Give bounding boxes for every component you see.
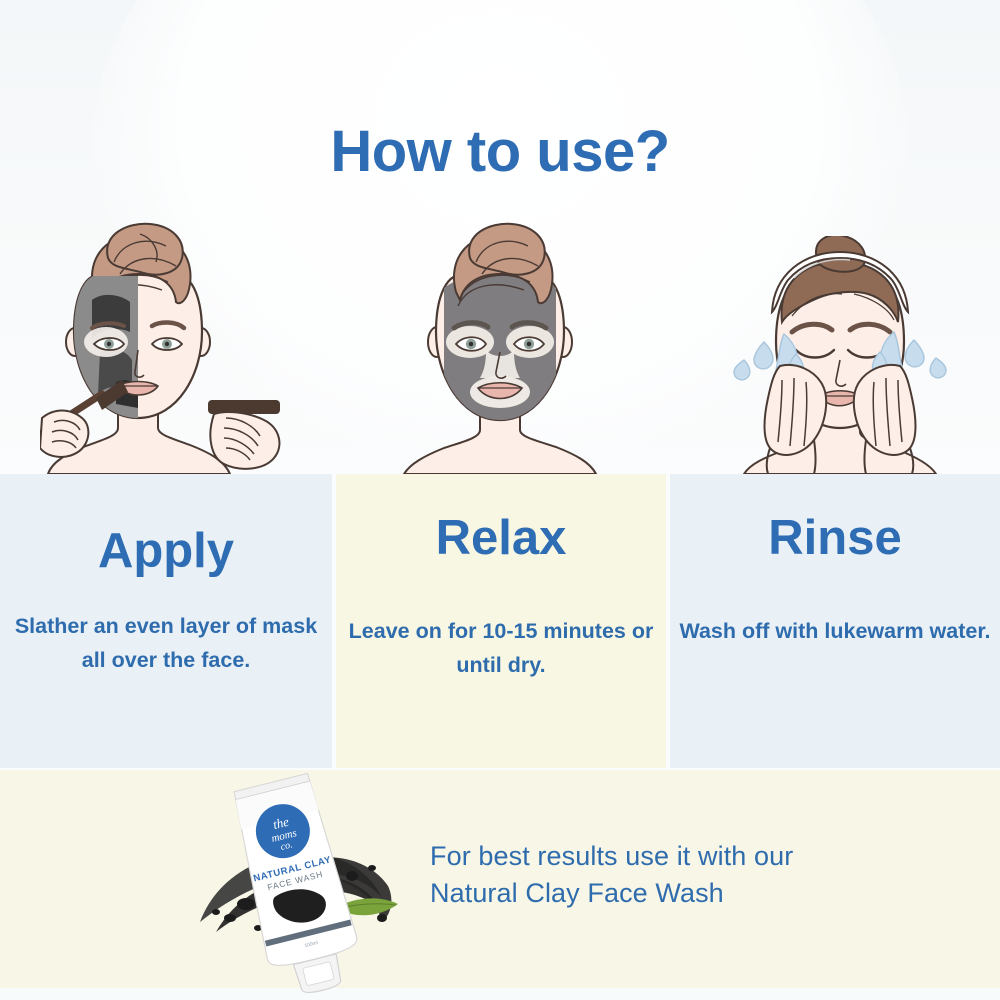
- product-tube-icon: the moms co. NATURAL CLAY FACE WASH 100m…: [186, 772, 401, 997]
- how-to-use-infographic: How to use?: [0, 0, 1000, 1000]
- step-heading-rinse: Rinse: [670, 514, 1000, 563]
- step-panel-apply: Apply Slather an even layer of mask all …: [0, 474, 332, 768]
- footer-edge-strip: [0, 988, 1000, 1000]
- step-body-rinse: Wash off with lukewarm water.: [670, 614, 1000, 648]
- step-panel-rinse: Rinse Wash off with lukewarm water.: [670, 474, 1000, 768]
- hero-section: How to use?: [0, 0, 1000, 474]
- step-heading-apply: Apply: [0, 527, 332, 576]
- step-body-apply: Slather an even layer of mask all over t…: [0, 609, 332, 677]
- page-title: How to use?: [0, 123, 1000, 181]
- step-panel-relax: Relax Leave on for 10-15 minutes or unti…: [336, 474, 666, 768]
- step-heading-relax: Relax: [336, 514, 666, 563]
- illustration-relax: [392, 222, 608, 474]
- footer-text: For best results use it with our Natural…: [430, 838, 850, 912]
- illustration-apply: [40, 222, 300, 474]
- illustration-rinse: [722, 236, 958, 474]
- steps-row: Apply Slather an even layer of mask all …: [0, 474, 1000, 768]
- step-body-relax: Leave on for 10-15 minutes or until dry.: [336, 614, 666, 682]
